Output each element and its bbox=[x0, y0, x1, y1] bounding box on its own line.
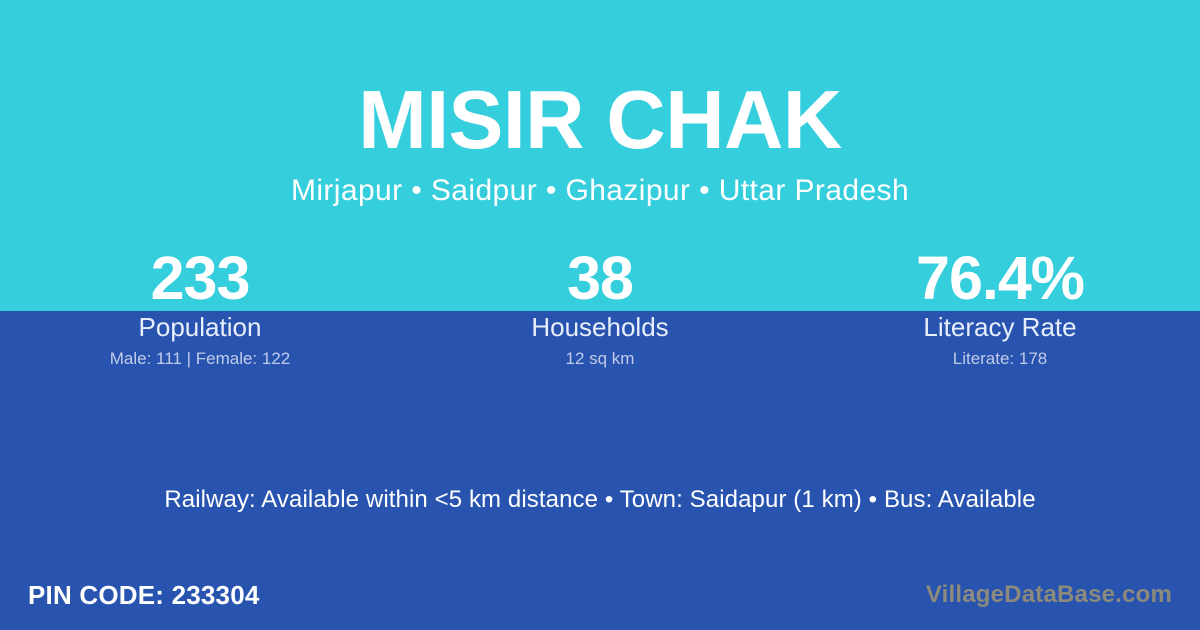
stat-households: 38 Households 12 sq km bbox=[400, 245, 800, 369]
stat-value-literacy-rate: 76.4% bbox=[800, 245, 1200, 311]
banner-header: MISIR CHAK Mirjapur • Saidpur • Ghazipur… bbox=[0, 0, 1200, 209]
site-branding: VillageDataBase.com bbox=[926, 581, 1172, 609]
stat-label-population: Population bbox=[0, 312, 400, 342]
stat-detail-literacy-rate: Literate: 178 bbox=[800, 349, 1200, 369]
stat-value-population: 233 bbox=[0, 245, 400, 311]
breadcrumb: Mirjapur • Saidpur • Ghazipur • Uttar Pr… bbox=[0, 174, 1200, 209]
stat-value-households: 38 bbox=[400, 245, 800, 311]
village-info-banner: MISIR CHAK Mirjapur • Saidpur • Ghazipur… bbox=[0, 0, 1200, 630]
stat-label-households: Households bbox=[400, 312, 800, 342]
transport-info: Railway: Available within <5 km distance… bbox=[0, 485, 1200, 515]
banner-footer: PIN CODE: 233304 VillageDataBase.com bbox=[0, 570, 1200, 630]
stats-row: 233 Population Male: 111 | Female: 122 3… bbox=[0, 245, 1200, 369]
stat-detail-population: Male: 111 | Female: 122 bbox=[0, 349, 400, 369]
stat-detail-households: 12 sq km bbox=[400, 349, 800, 369]
pin-code: PIN CODE: 233304 bbox=[28, 580, 260, 610]
stat-literacy-rate: 76.4% Literacy Rate Literate: 178 bbox=[800, 245, 1200, 369]
stat-label-literacy-rate: Literacy Rate bbox=[800, 312, 1200, 342]
stat-population: 233 Population Male: 111 | Female: 122 bbox=[0, 245, 400, 369]
page-title: MISIR CHAK bbox=[6, 79, 1194, 160]
